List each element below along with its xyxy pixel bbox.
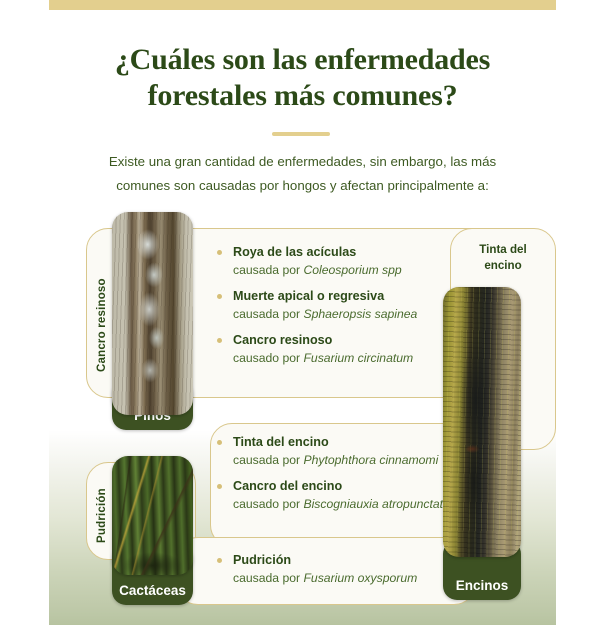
list-item: Tinta del encino causada por Phytophthor… xyxy=(215,434,460,469)
bullet-icon xyxy=(217,440,222,445)
pathogen-name: Fusarium circinatum xyxy=(303,351,413,365)
pathogen-name: Phytophthora cinnamomi xyxy=(303,453,438,467)
list-item: Roya de las acículas causada por Coleosp… xyxy=(215,244,440,279)
oak-bark-photo xyxy=(443,287,521,557)
list-item: Pudrición causada por Fusarium oxysporum xyxy=(215,552,460,587)
pine-bark-photo xyxy=(112,212,193,415)
page-subtitle: Existe una gran cantidad de enfermedades… xyxy=(89,150,516,198)
bullet-icon xyxy=(217,250,222,255)
disease-list-pinos: Roya de las acículas causada por Coleosp… xyxy=(215,244,440,367)
disease-list-encinos: Tinta del encino causada por Phytophthor… xyxy=(215,434,460,513)
list-item: Muerte apical o regresiva causada por Sp… xyxy=(215,288,440,323)
cause-prefix: causada por xyxy=(233,263,303,277)
disease-cause: causada por Sphaeropsis sapinea xyxy=(233,305,440,323)
oak-bark-texture xyxy=(443,287,521,557)
tab-label: Encinos xyxy=(456,578,509,593)
cactus-texture xyxy=(112,456,193,575)
title-line-2: forestales más comunes? xyxy=(49,78,556,114)
side-label-cancro-resinoso: Cancro resinoso xyxy=(96,256,108,372)
disease-cause: causado por Fusarium circinatum xyxy=(233,349,440,367)
infographic-page: ¿Cuáles son las enfermedades forestales … xyxy=(0,0,608,637)
cause-prefix: causado por xyxy=(233,351,303,365)
pathogen-name: Fusarium oxysporum xyxy=(303,571,417,585)
disease-name: Roya de las acículas xyxy=(233,244,440,261)
cause-prefix: causada por xyxy=(233,307,303,321)
pine-bark-texture xyxy=(112,212,193,415)
disease-name: Cancro del encino xyxy=(233,478,460,495)
subtitle-line-2: comunes son causadas por hongos y afecta… xyxy=(89,174,516,198)
cactus-photo xyxy=(112,456,193,575)
top-label-line-2: encino xyxy=(452,258,554,274)
pathogen-name: Sphaeropsis sapinea xyxy=(303,307,417,321)
disease-cause: causada por Coleosporium spp xyxy=(233,261,440,279)
cause-prefix: causado por xyxy=(233,497,303,511)
disease-cause: causado por Biscogniauxia atropunctata xyxy=(233,495,460,513)
disease-list-cactaceas: Pudrición causada por Fusarium oxysporum xyxy=(215,552,460,587)
bullet-icon xyxy=(217,294,222,299)
page-title: ¿Cuáles son las enfermedades forestales … xyxy=(49,42,556,114)
disease-name: Cancro resinoso xyxy=(233,332,440,349)
subtitle-line-1: Existe una gran cantidad de enfermedades… xyxy=(109,154,496,169)
disease-name: Tinta del encino xyxy=(233,434,460,451)
top-gold-bar xyxy=(49,0,556,10)
list-item: Cancro del encino causado por Biscogniau… xyxy=(215,478,460,513)
pathogen-name: Coleosporium spp xyxy=(303,263,401,277)
cause-prefix: causada por xyxy=(233,453,303,467)
cause-prefix: causada por xyxy=(233,571,303,585)
disease-name: Muerte apical o regresiva xyxy=(233,288,440,305)
list-item: Cancro resinoso causado por Fusarium cir… xyxy=(215,332,440,367)
title-line-1: ¿Cuáles son las enfermedades xyxy=(115,43,490,76)
bullet-icon xyxy=(217,338,222,343)
top-label-tinta-del-encino: Tinta del encino xyxy=(452,242,554,274)
disease-cause: causada por Phytophthora cinnamomi xyxy=(233,451,460,469)
pathogen-name: Biscogniauxia atropunctata xyxy=(303,497,449,511)
side-label-pudricion: Pudrición xyxy=(96,481,108,543)
disease-name: Pudrición xyxy=(233,552,460,569)
bullet-icon xyxy=(217,484,222,489)
top-label-line-1: Tinta del xyxy=(479,243,526,256)
disease-cause: causada por Fusarium oxysporum xyxy=(233,569,460,587)
tab-label: Cactáceas xyxy=(119,583,186,598)
bullet-icon xyxy=(217,558,222,563)
title-divider xyxy=(272,132,330,136)
